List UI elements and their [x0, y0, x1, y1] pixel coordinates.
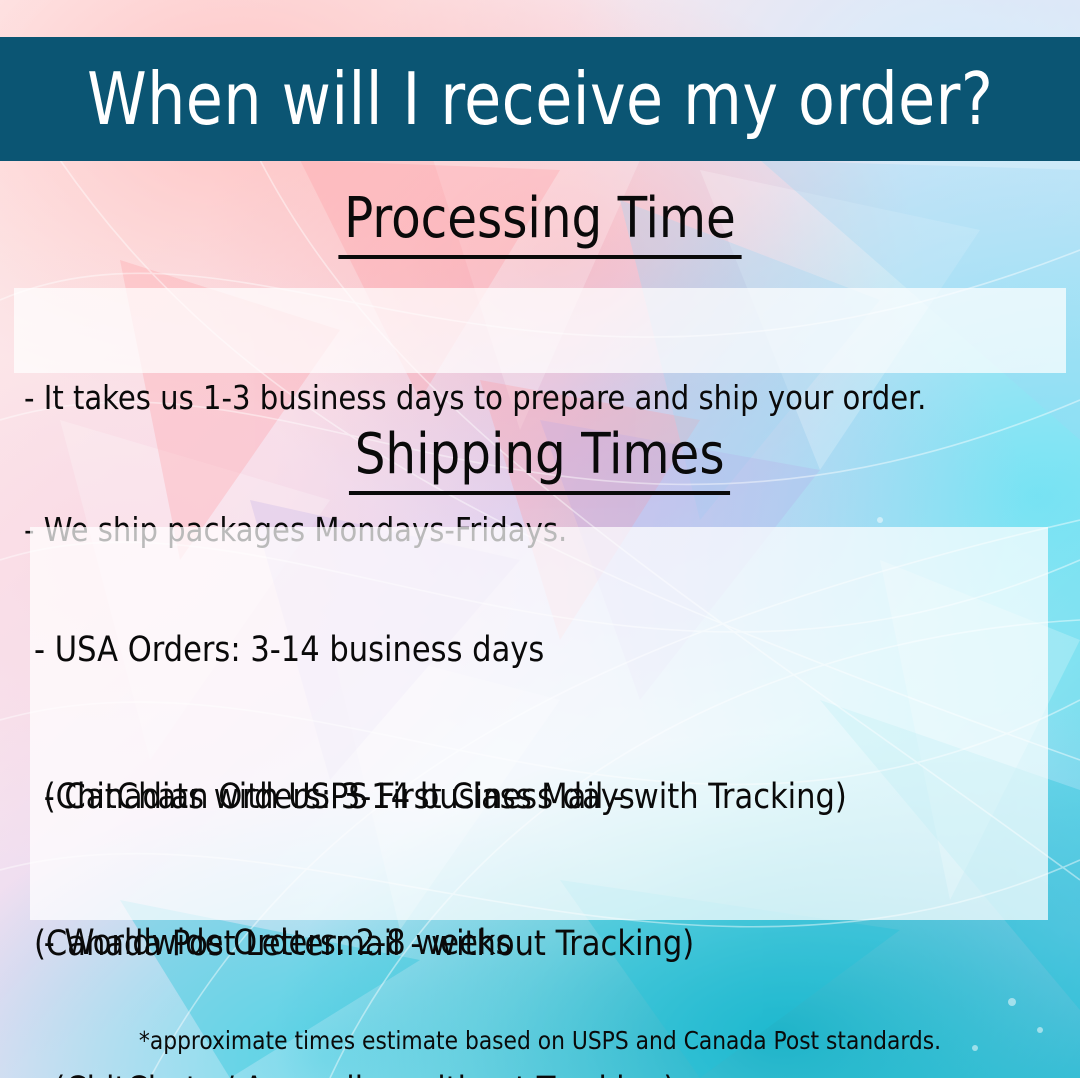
page-title: When will I receive my order? — [87, 63, 993, 135]
processing-line-1: - It takes us 1-3 business days to prepa… — [24, 376, 926, 420]
header-banner: When will I receive my order? — [0, 37, 1080, 161]
shipping-usa-line-1: - USA Orders: 3-14 business days — [34, 626, 847, 675]
section-heading-processing-time-text: Processing Time — [338, 191, 741, 259]
footer-line-1: *approximate times estimate based on USP… — [16, 1024, 1064, 1057]
footer-disclaimer: *approximate times estimate based on USP… — [0, 958, 1080, 1078]
shipping-canada-line-1: - Canadian Orders: 3-14 business days — [34, 773, 694, 822]
shipping-info-poster: When will I receive my order? Processing… — [0, 0, 1080, 1078]
section-heading-shipping-times-text: Shipping Times — [349, 427, 730, 495]
section-heading-processing-time: Processing Time — [0, 191, 1080, 259]
section-heading-shipping-times: Shipping Times — [0, 427, 1080, 495]
